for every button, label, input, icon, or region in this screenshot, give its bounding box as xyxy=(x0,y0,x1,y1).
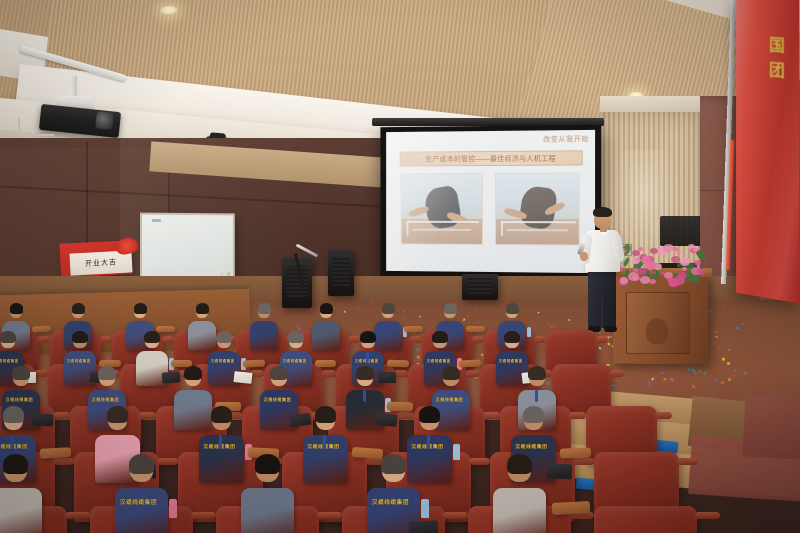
theater-seat[interactable] xyxy=(594,506,697,533)
attendee-hair xyxy=(504,331,519,343)
attendee-hair xyxy=(0,331,15,343)
flower-petal xyxy=(694,260,701,265)
confetti-piece xyxy=(357,308,359,310)
attendee-notebook xyxy=(233,371,252,383)
conference-hall-photo: 改变从我开始 生产成本的管控——最佳经济与人机工程 xyxy=(0,0,800,533)
seat-armrest xyxy=(139,412,156,419)
seat-armrest xyxy=(569,412,586,419)
flower-petal xyxy=(638,247,643,251)
seat-writing-tablet[interactable] xyxy=(156,326,175,332)
seat-armrest xyxy=(472,336,484,343)
uniform-back-text: 汉缆线缆集团 xyxy=(0,358,19,363)
seat-writing-tablet[interactable] xyxy=(560,447,592,458)
seat-armrest xyxy=(100,336,112,343)
attendee-notebook xyxy=(409,521,439,533)
seat-armrest xyxy=(191,512,216,519)
attendee-hair xyxy=(288,331,303,343)
attendee-hair xyxy=(507,454,532,474)
seat-armrest xyxy=(469,458,490,465)
seat-armrest xyxy=(443,512,468,519)
flower-petal xyxy=(697,268,705,275)
attendee-torso xyxy=(0,488,42,533)
attendee-hair xyxy=(72,303,85,314)
attendee-hair xyxy=(528,366,546,381)
attendee-hair xyxy=(315,406,336,423)
attendee-uniform-torso xyxy=(115,488,169,533)
attendee-notebook xyxy=(32,414,54,427)
confetti-piece xyxy=(647,381,650,385)
confetti-piece xyxy=(715,336,718,338)
slide-title-text: 生产成本的管控——最佳经济与人机工程 xyxy=(425,153,556,164)
confetti-piece xyxy=(418,315,420,317)
slide-photo-hurdler-left xyxy=(401,173,483,245)
uniform-back-text: 汉缆线缆集团 xyxy=(120,498,157,506)
attendee-lanyard xyxy=(219,435,222,449)
attendee-hair xyxy=(360,331,375,343)
seat-writing-tablet[interactable] xyxy=(315,360,337,367)
seat-armrest xyxy=(53,458,74,465)
seat-armrest xyxy=(162,336,174,343)
attendee-lanyard xyxy=(366,352,369,362)
attendee-hair xyxy=(442,366,460,381)
attendee-hair xyxy=(258,303,271,314)
flower-arrangement xyxy=(612,240,704,286)
water-bottle xyxy=(453,444,460,460)
flower-petal xyxy=(620,277,629,284)
flower-petal xyxy=(649,279,656,285)
water-bottle xyxy=(169,499,177,518)
uniform-back-text: 汉缆线缆集团 xyxy=(67,358,91,363)
confetti-piece xyxy=(371,301,372,303)
speaker-hand xyxy=(580,252,588,261)
attendee-hair xyxy=(196,303,209,314)
attendee-lanyard xyxy=(427,435,430,449)
seat-armrest xyxy=(483,412,500,419)
seat-writing-tablet[interactable] xyxy=(552,501,590,515)
uniform-back-text: 汉缆线缆集团 xyxy=(499,358,523,363)
uniform-back-text: 汉缆线缆集团 xyxy=(6,397,34,403)
water-bottle xyxy=(421,499,429,518)
projector-cable xyxy=(18,118,54,136)
attendee-hair xyxy=(184,366,202,381)
attendee-hair xyxy=(270,366,288,381)
attendee-uniform-torso xyxy=(250,321,278,350)
uniform-back-text: 汉缆线缆集团 xyxy=(515,443,547,450)
attendee-uniform-torso xyxy=(374,321,402,350)
attendee-hair xyxy=(506,303,519,314)
right-red-banner-text: 国团 xyxy=(754,35,797,80)
seat-armrest xyxy=(410,336,422,343)
seat-armrest xyxy=(695,512,720,519)
pa-speaker-cabinet xyxy=(328,250,354,296)
confetti-piece xyxy=(610,335,613,337)
attendee-notebook xyxy=(378,372,396,383)
attendee-hair xyxy=(432,331,447,343)
confetti-piece xyxy=(714,331,717,334)
attendee-hair xyxy=(134,303,147,314)
ceiling-downlight-icon xyxy=(160,6,178,15)
banner-text: 开业大吉 xyxy=(85,257,117,269)
attendee-hair xyxy=(107,406,128,423)
uniform-back-text: 汉缆线缆集团 xyxy=(92,397,120,403)
attendee-lanyard xyxy=(323,435,326,449)
aisle-carpet xyxy=(742,394,800,459)
seat-armrest xyxy=(534,336,546,343)
confetti-piece xyxy=(691,384,695,388)
seat-armrest xyxy=(573,458,594,465)
seat-armrest xyxy=(677,458,698,465)
seat-armrest xyxy=(655,412,672,419)
slide-header-text: 改变从我开始 xyxy=(543,134,589,145)
projector-lens-icon xyxy=(95,111,114,130)
attendee-hair xyxy=(12,366,30,381)
flower-petal xyxy=(680,257,691,265)
confetti-piece xyxy=(687,368,690,371)
attendee-torso xyxy=(312,321,340,350)
attendee-torso xyxy=(188,321,216,350)
confetti-piece xyxy=(670,377,674,381)
flower-petal xyxy=(650,248,657,254)
whiteboard-marking xyxy=(152,219,161,222)
attendee-torso xyxy=(493,488,547,533)
seat-armrest xyxy=(317,512,342,519)
attendee-hair xyxy=(320,303,333,314)
whiteboard xyxy=(140,213,235,280)
attendee-torso xyxy=(241,488,295,533)
seat-armrest xyxy=(53,412,70,419)
attendee-lanyard xyxy=(535,390,538,402)
uniform-back-text: 汉缆线缆集团 xyxy=(372,498,409,506)
attendee-lanyard xyxy=(363,390,366,402)
slide-photo-group xyxy=(401,173,580,246)
pa-speaker-cabinet xyxy=(462,274,498,300)
flower-petal xyxy=(635,258,641,263)
banner-char: 团 xyxy=(767,60,783,78)
seat-writing-tablet[interactable] xyxy=(387,402,413,412)
attendee-hair xyxy=(444,303,457,314)
attendee-hair xyxy=(523,406,544,423)
attendee-lanyard xyxy=(11,435,14,449)
projection-screen: 改变从我开始 生产成本的管控——最佳经济与人机工程 xyxy=(386,130,595,273)
seat-armrest xyxy=(397,412,414,419)
seat-armrest xyxy=(38,336,50,343)
attendee-hair xyxy=(381,454,406,474)
attendee-torso xyxy=(174,390,212,430)
attendee-hair xyxy=(255,454,280,474)
slide-title-bar: 生产成本的管控——最佳经济与人机工程 xyxy=(400,150,583,166)
attendee-hair xyxy=(211,406,232,423)
seat-armrest xyxy=(348,336,360,343)
flower-petal xyxy=(628,272,639,281)
attendee-hair xyxy=(10,303,23,314)
photo-hurdle-bar xyxy=(413,229,471,240)
attendee-hair xyxy=(356,366,374,381)
seat-armrest xyxy=(610,370,624,377)
slide-photo-hurdler-right xyxy=(495,173,580,246)
seat-armrest xyxy=(466,370,480,377)
flower-petal xyxy=(663,244,673,252)
attendee-notebook xyxy=(161,371,180,383)
uniform-back-text: 汉缆线缆集团 xyxy=(427,358,451,363)
attendee-hair xyxy=(382,303,395,314)
attendee-hair xyxy=(129,454,154,474)
attendee-notebook xyxy=(547,463,573,479)
seat-armrest xyxy=(596,336,608,343)
uniform-back-text: 汉缆线缆集团 xyxy=(436,397,464,403)
photo-athlete-arm xyxy=(407,204,429,217)
banner-char: 国 xyxy=(767,36,783,54)
attendee-hair xyxy=(3,454,28,474)
podium-emblem xyxy=(646,318,668,344)
speaker-hair xyxy=(593,207,612,217)
flower-petal xyxy=(676,251,681,255)
seat-writing-tablet[interactable] xyxy=(404,326,423,333)
seat-writing-tablet[interactable] xyxy=(40,447,72,459)
seat-writing-tablet[interactable] xyxy=(387,360,409,368)
flower-petal xyxy=(674,247,679,251)
attendee-hair xyxy=(144,331,159,343)
attendee-hair xyxy=(72,331,87,343)
confetti-piece xyxy=(722,358,725,361)
attendee-hair xyxy=(3,406,24,423)
seat-writing-tablet[interactable] xyxy=(466,326,485,332)
photo-hurdle-bar xyxy=(507,229,567,240)
speaker-leg-separation xyxy=(601,292,603,328)
uniform-back-text: 汉缆线缆集团 xyxy=(264,397,292,403)
seat-armrest xyxy=(65,512,90,519)
attendee-notebook xyxy=(376,413,398,427)
seat-armrest xyxy=(322,370,336,377)
speaker-shoe xyxy=(604,326,617,332)
uniform-back-text: 汉缆线缆集团 xyxy=(283,358,307,363)
attendee-hair xyxy=(216,331,231,343)
uniform-back-text: 汉缆线缆集团 xyxy=(211,358,235,363)
seat-armrest xyxy=(157,458,178,465)
flower-petal xyxy=(668,278,679,287)
water-bottle xyxy=(527,327,531,337)
attendee-hair xyxy=(419,406,440,423)
attendee-hair xyxy=(98,366,116,381)
